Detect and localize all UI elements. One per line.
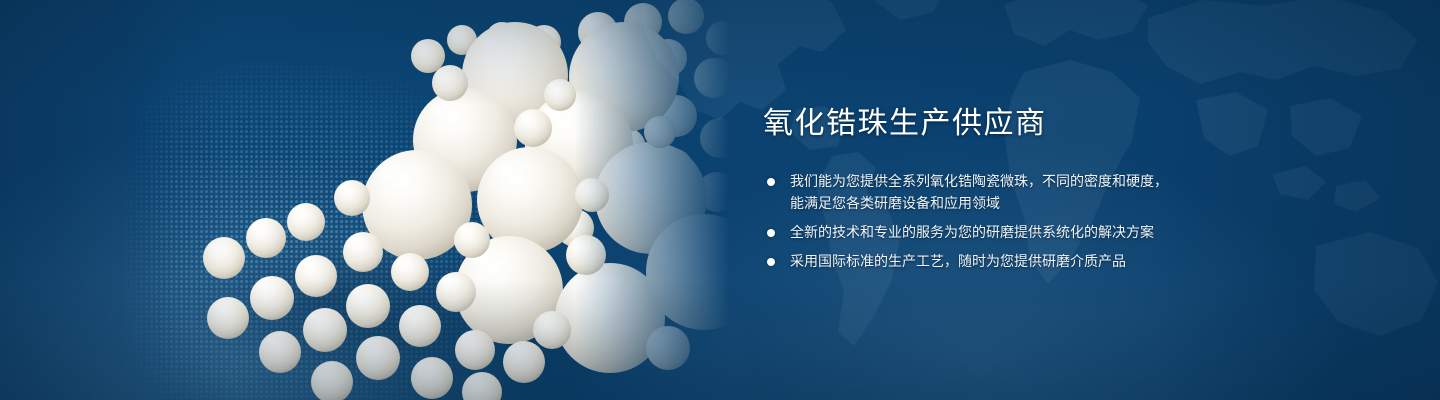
feature-list: 我们能为您提供全系列氧化锆陶瓷微珠，不同的密度和硬度， 能满足您各类研磨设备和应… [763, 170, 1283, 272]
banner-copy: 氧化锆珠生产供应商 我们能为您提供全系列氧化锆陶瓷微珠，不同的密度和硬度， 能满… [763, 104, 1283, 272]
bullet-dot-icon [767, 178, 775, 186]
list-item: 全新的技术和专业的服务为您的研磨提供系统化的解决方案 [763, 221, 1283, 243]
list-item-line: 采用国际标准的生产工艺，随时为您提供研磨介质产品 [790, 250, 1283, 272]
zirconia-beads-photo [120, 0, 740, 400]
bullet-dot-icon [767, 229, 775, 237]
list-item-line: 全新的技术和专业的服务为您的研磨提供系统化的解决方案 [790, 221, 1283, 243]
bead-cluster-image [120, 0, 740, 400]
page-title: 氧化锆珠生产供应商 [763, 104, 1283, 144]
bullet-dot-icon [767, 258, 775, 266]
list-item: 我们能为您提供全系列氧化锆陶瓷微珠，不同的密度和硬度， 能满足您各类研磨设备和应… [763, 170, 1283, 214]
list-item-line: 能满足您各类研磨设备和应用领域 [790, 192, 1283, 214]
list-item-line: 我们能为您提供全系列氧化锆陶瓷微珠，不同的密度和硬度， [790, 170, 1283, 192]
hero-banner: 氧化锆珠生产供应商 我们能为您提供全系列氧化锆陶瓷微珠，不同的密度和硬度， 能满… [0, 0, 1440, 400]
list-item: 采用国际标准的生产工艺，随时为您提供研磨介质产品 [763, 250, 1283, 272]
